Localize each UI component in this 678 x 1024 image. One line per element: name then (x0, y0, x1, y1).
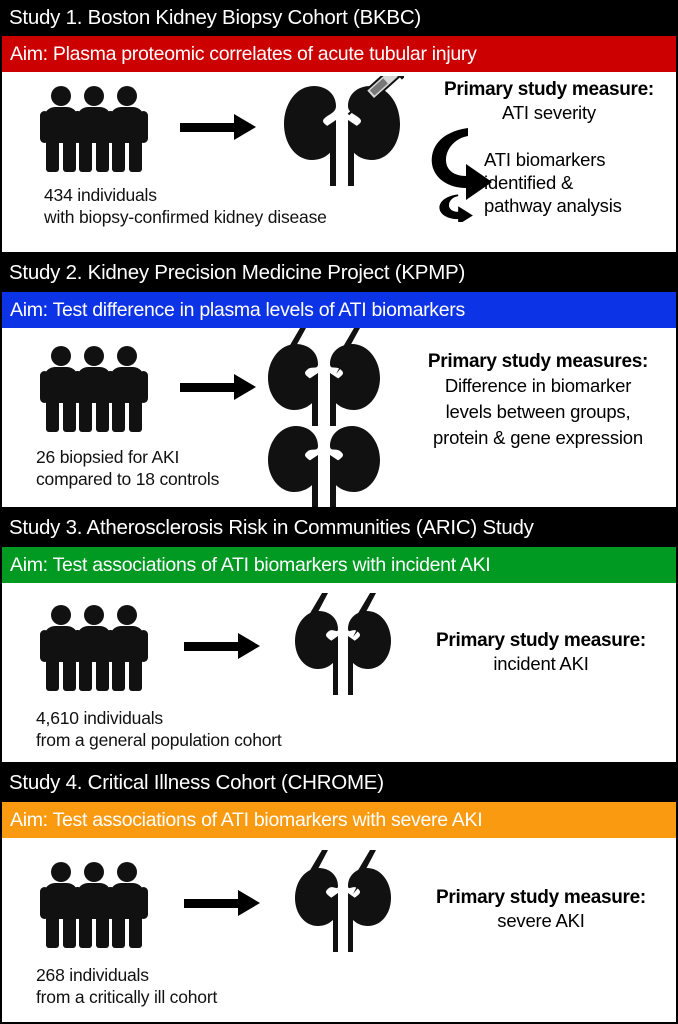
measure-heading: Primary study measures: (400, 350, 676, 373)
study-2-body: 26 biopsied for AKI compared to 18 contr… (2, 328, 676, 507)
study-panel-3: Study 3. Atherosclerosis Risk in Communi… (0, 509, 678, 764)
person-icon (40, 86, 82, 172)
injured-kidneys-icon (260, 328, 386, 428)
kidneys-with-syringe-icon (274, 76, 404, 196)
people-group (40, 346, 148, 432)
study-4-measure-block: Primary study measure: severe AKI (406, 886, 676, 932)
study-panel-4: Study 4. Critical Illness Cohort (CHROME… (0, 764, 678, 1024)
study-2-aim-bar: Aim: Test difference in plasma levels of… (2, 292, 676, 328)
study-4-caption: 268 individuals from a critically ill co… (36, 964, 217, 1008)
study-1-title: Study 1. Boston Kidney Biopsy Cohort (BK… (0, 0, 678, 36)
measure-line: protein & gene expression (400, 425, 676, 451)
right-arrow-icon (184, 633, 260, 659)
kidneys-with-lightning-icon (290, 850, 394, 956)
right-arrow-icon (180, 114, 256, 140)
measure-heading: Primary study measure: (406, 886, 676, 909)
measure-line: identified & (422, 171, 676, 194)
measure-line: incident AKI (406, 652, 676, 675)
measure-line: levels between groups, (400, 399, 676, 425)
caption-line-1: 434 individuals (44, 184, 327, 206)
person-icon (40, 346, 82, 432)
caption-line-2: from a critically ill cohort (36, 986, 217, 1008)
measure-heading: Primary study measure: (406, 629, 676, 652)
study-1-aim-bar: Aim: Plasma proteomic correlates of acut… (2, 36, 676, 72)
measure-line: pathway analysis (422, 194, 676, 217)
study-3-aim-bar: Aim: Test associations of ATI biomarkers… (2, 547, 676, 583)
study-4-title: Study 4. Critical Illness Cohort (CHROME… (0, 764, 678, 802)
right-arrow-icon (184, 890, 260, 916)
person-icon (40, 605, 82, 691)
caption-line-2: from a general population cohort (36, 729, 282, 751)
study-1-body: 434 individuals with biopsy-confirmed ki… (2, 72, 676, 252)
study-3-measure-block: Primary study measure: incident AKI (406, 629, 676, 675)
study-2-caption: 26 biopsied for AKI compared to 18 contr… (36, 446, 219, 490)
measure-line: ATI biomarkers (422, 148, 676, 171)
study-3-title: Study 3. Atherosclerosis Risk in Communi… (0, 509, 678, 547)
caption-line-2: with biopsy-confirmed kidney disease (44, 206, 327, 228)
study-1-caption: 434 individuals with biopsy-confirmed ki… (44, 184, 327, 228)
measure-line: severe AKI (406, 909, 676, 932)
study-panel-2: Study 2. Kidney Precision Medicine Proje… (0, 254, 678, 509)
study-panel-1: Study 1. Boston Kidney Biopsy Cohort (BK… (0, 0, 678, 254)
people-group (40, 605, 148, 691)
caption-line-1: 26 biopsied for AKI (36, 446, 219, 468)
people-group (40, 86, 148, 172)
measure-line: Difference in biomarker (400, 373, 676, 399)
study-4-body: 268 individuals from a critically ill co… (2, 838, 676, 1022)
kidneys-with-lightning-icon (290, 593, 394, 699)
healthy-kidneys-icon (260, 424, 386, 507)
person-icon (40, 862, 82, 948)
measure-line: ATI severity (422, 101, 676, 124)
study-2-measure-block: Primary study measures: Difference in bi… (400, 350, 676, 451)
study-2-title: Study 2. Kidney Precision Medicine Proje… (0, 254, 678, 292)
study-3-caption: 4,610 individuals from a general populat… (36, 707, 282, 751)
people-group (40, 862, 148, 948)
study-3-body: 4,610 individuals from a general populat… (2, 583, 676, 762)
caption-line-1: 268 individuals (36, 964, 217, 986)
study-4-aim-bar: Aim: Test associations of ATI biomarkers… (2, 802, 676, 838)
caption-line-1: 4,610 individuals (36, 707, 282, 729)
measure-heading: Primary study measure: (422, 78, 676, 101)
right-arrow-icon (180, 374, 256, 400)
study-1-measure-block: Primary study measure: ATI severity ATI … (422, 78, 676, 217)
study-overview-figure: Study 1. Boston Kidney Biopsy Cohort (BK… (0, 0, 678, 1024)
caption-line-2: compared to 18 controls (36, 468, 219, 490)
